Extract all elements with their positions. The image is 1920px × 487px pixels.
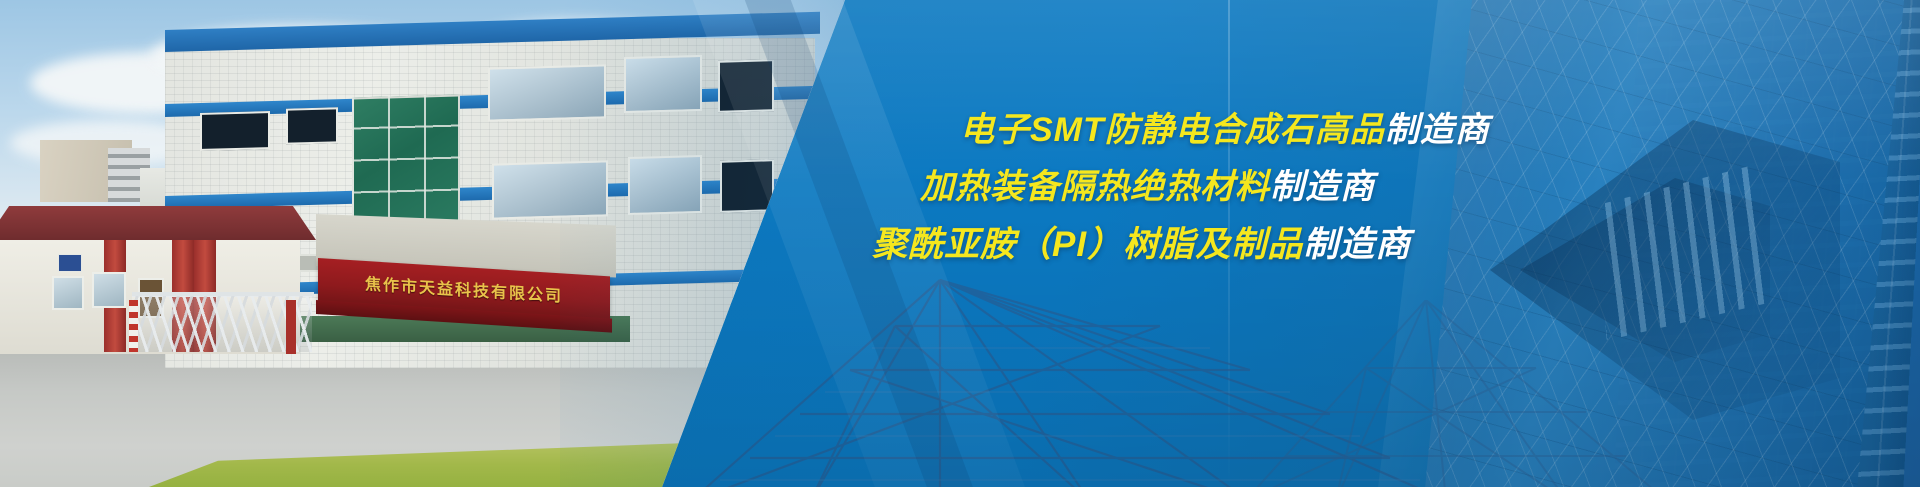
gate-window <box>52 276 84 310</box>
headline-line-1: 电子SMT防静电合成石高品制造商 <box>960 112 1760 148</box>
window <box>286 107 338 144</box>
curtain-wall-mullions <box>352 94 460 225</box>
green-curtain-wall <box>352 94 460 225</box>
headline-line-2-plain: 制造商 <box>1270 168 1375 206</box>
window <box>488 64 606 121</box>
hero-banner: 焦作市天益科技有限公司 电子SMT防静电合成石高品制造商 加热装备隔热绝热材料制… <box>0 0 1920 487</box>
window <box>718 59 774 113</box>
window <box>628 155 702 215</box>
headline-line-2-highlight: 加热装备隔热绝热材料 <box>920 168 1270 206</box>
window <box>720 159 774 213</box>
headline-line-3: 聚酰亚胺（PI）树脂及制品制造商 <box>872 226 1760 263</box>
headline-line-3-highlight: 聚酰亚胺（PI）树脂及制品 <box>872 225 1303 264</box>
gate-house-roof <box>0 206 316 240</box>
gate-warning-stripe <box>129 300 138 352</box>
headline-group: 电子SMT防静电合成石高品制造商 加热装备隔热绝热材料制造商 聚酰亚胺（PI）树… <box>960 112 1760 263</box>
window <box>624 55 702 113</box>
headline-line-3-plain: 制造商 <box>1303 225 1411 264</box>
gate-window <box>92 272 126 308</box>
window <box>200 111 270 151</box>
gate-plaque <box>58 254 82 272</box>
retractable-gate <box>132 296 312 352</box>
headline-line-1-highlight: 电子SMT防静电合成石高品 <box>960 111 1385 149</box>
headline-line-2: 加热装备隔热绝热材料制造商 <box>920 169 1760 205</box>
gate-end-post <box>286 300 296 354</box>
window <box>492 160 608 219</box>
headline-line-1-plain: 制造商 <box>1385 111 1490 149</box>
